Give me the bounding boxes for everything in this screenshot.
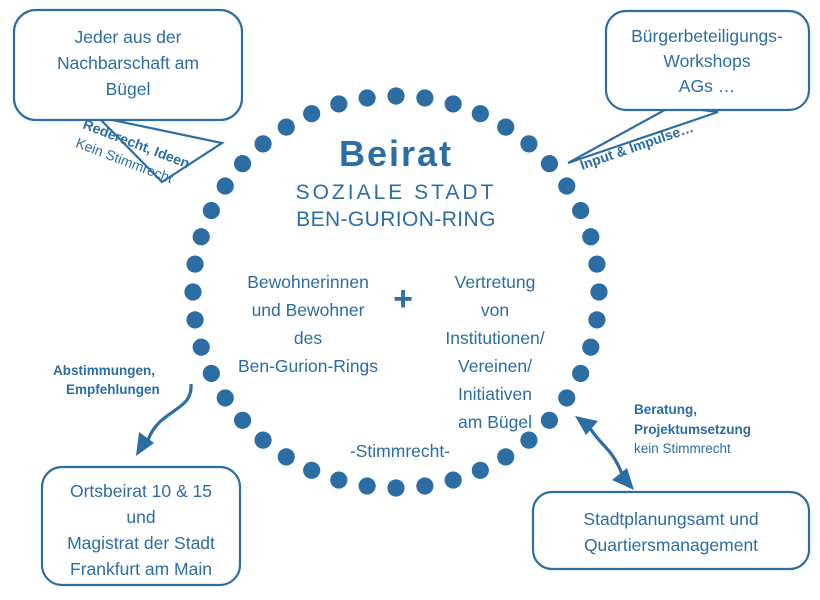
ring-dot [303,105,320,122]
ring-dot [387,87,404,104]
institutions-line-6: am Bügel [458,412,532,432]
arrow-bottom-right-path [590,428,622,474]
diagram-title: Beirat [339,133,453,174]
ring-dot [416,89,433,106]
ring-dot [186,256,203,273]
ring-dot [193,228,210,245]
ring-dot [359,89,376,106]
box-bottom-left-line-2: und [126,507,155,527]
ring-dot [572,365,589,382]
diagram-canvas: Beirat SOZIALE STADT BEN-GURION-RING Bew… [0,0,820,600]
box-bottom-left-line-3: Magistrat der Stadt [67,533,215,553]
residents-line-2: und Bewohner [252,300,365,320]
arrow-label-empfehlungen: Empfehlungen [66,382,160,397]
ring-dot [330,95,347,112]
box-bottom-right-line-1: Stadtplanungsamt und [583,509,758,529]
ring-dot [445,95,462,112]
arrow-bottom-right [575,416,634,490]
plus-connector: + [393,280,413,318]
bubble-top-left-line-1: Jeder aus der [74,27,181,47]
ring-dot [203,365,220,382]
arrow-label-projektumsetzung: Projektumsetzung [634,422,751,437]
residents-line-1: Bewohnerinnen [247,272,369,292]
ring-dot [278,448,295,465]
ring-dot [520,432,537,449]
bubble-top-left-line-3: Bügel [106,79,151,99]
ring-dot [278,119,295,136]
box-bottom-right[interactable]: Stadtplanungsamt und Quartiersmanagement [533,492,809,569]
ring-dot [520,135,537,152]
ring-dot [541,155,558,172]
box-bottom-right-line-2: Quartiersmanagement [584,535,758,555]
ring-dot [217,389,234,406]
ring-dot [186,311,203,328]
ring-dot [588,311,605,328]
ring-dot [582,339,599,356]
diagram-subtitle-1: SOZIALE STADT [296,181,497,204]
ring-dot [387,479,404,496]
ring-dot [590,283,607,300]
ring-dot [472,462,489,479]
ring-dot [254,432,271,449]
arrow-label-abstimmungen: Abstimmungen, [53,363,155,378]
box-bottom-left[interactable]: Ortsbeirat 10 & 15 und Magistrat der Sta… [42,467,240,585]
residents-line-4: Ben-Gurion-Rings [238,356,378,376]
bubble-top-right-line-3: AGs … [679,76,735,96]
box-bottom-left-line-1: Ortsbeirat 10 & 15 [70,481,212,501]
bubble-top-right[interactable]: Bürgerbeteiligungs- Workshops AGs … [568,11,809,163]
ring-dot [582,228,599,245]
box-bottom-right-body [533,492,809,569]
ring-dot [359,477,376,494]
ring-dot [330,471,347,488]
institutions-line-1: Vertretung [455,272,536,292]
ring-dot [184,283,201,300]
ring-dot [254,135,271,152]
ring-dot [217,177,234,194]
beirat-diagram: Beirat SOZIALE STADT BEN-GURION-RING Bew… [0,0,820,600]
ring-dot [497,119,514,136]
arrow-label-kein-stimmrecht: kein Stimmrecht [634,441,731,456]
arrow-bottom-right-head-down-icon [612,468,634,490]
ring-dot [558,389,575,406]
ring-dot [303,462,320,479]
ring-dot [203,202,220,219]
arrow-label-beratung: Beratung, [634,402,697,417]
ring-dot [234,155,251,172]
institutions-line-2: von [481,300,509,320]
institutions-line-4: Vereinen/ [458,356,532,376]
voting-note: -Stimmrecht- [350,441,450,461]
diagram-subtitle-2: BEN-GURION-RING [296,208,496,231]
ring-dot [234,412,251,429]
bubble-top-right-line-1: Bürgerbeteiligungs- [631,26,783,46]
ring-dot [588,256,605,273]
ring-dot [558,177,575,194]
ring-dot [445,471,462,488]
ring-dot [572,202,589,219]
box-bottom-left-line-4: Frankfurt am Main [70,559,212,579]
bubble-top-right-line-2: Workshops [663,51,750,71]
institutions-line-3: Institutionen/ [445,328,544,348]
ring-dot [497,448,514,465]
bubble-top-left-line-2: Nachbarschaft am [57,53,199,73]
residents-line-3: des [294,328,322,348]
institutions-line-5: Initiativen [458,384,532,404]
ring-dot [472,105,489,122]
ring-dot [416,477,433,494]
ring-dot [193,339,210,356]
ring-dot [541,412,558,429]
